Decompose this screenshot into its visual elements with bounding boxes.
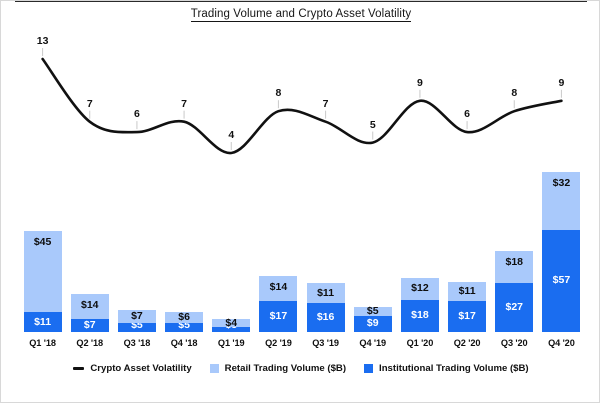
- legend-item[interactable]: Institutional Trading Volume ($B): [364, 363, 529, 374]
- bar-label-retail: $45: [24, 237, 62, 248]
- bar-label-institutional: $7: [71, 320, 109, 331]
- bar-label-retail: $11: [448, 286, 486, 297]
- bar-label-retail: $32: [542, 178, 580, 189]
- bar-label-retail: $4: [212, 318, 250, 329]
- bar-segment-retail: $14: [259, 276, 297, 301]
- bar-group: $57$32: [542, 172, 580, 332]
- bar-segment-institutional: $17: [259, 301, 297, 332]
- x-tick-label: Q3 '20: [491, 338, 538, 348]
- bar-segment-retail: $5: [354, 307, 392, 316]
- bar-segment-institutional: $11: [24, 312, 62, 332]
- bar-label-institutional: $11: [24, 317, 62, 328]
- bar-label-retail: $5: [354, 306, 392, 317]
- x-tick-label: Q4 '19: [349, 338, 396, 348]
- bar-label-retail: $7: [118, 311, 156, 322]
- bar-group: $5$6: [165, 312, 203, 332]
- volatility-point-label: 8: [494, 87, 534, 99]
- x-tick-label: Q4 '18: [161, 338, 208, 348]
- volatility-point-label: 5: [353, 119, 393, 131]
- bar-segment-institutional: $3: [212, 327, 250, 332]
- x-tick-label: Q2 '19: [255, 338, 302, 348]
- plot-area: $11$45$7$14$5$7$5$6$3$4$17$14$16$11$9$5$…: [1, 1, 600, 404]
- bars-layer: $11$45$7$14$5$7$5$6$3$4$17$14$16$11$9$5$…: [1, 1, 600, 404]
- bar-label-retail: $12: [401, 283, 439, 294]
- bar-label-retail: $18: [495, 257, 533, 268]
- bar-segment-retail: $18: [495, 251, 533, 283]
- bar-group: $11$45: [24, 231, 62, 332]
- bar-segment-retail: $11: [448, 282, 486, 302]
- bar-label-institutional: $57: [542, 275, 580, 286]
- volatility-point-label: 13: [23, 35, 63, 47]
- bar-group: $7$14: [71, 294, 109, 332]
- volatility-point-label: 9: [400, 77, 440, 89]
- legend-item-label: Institutional Trading Volume ($B): [379, 363, 529, 374]
- bar-group: $17$11: [448, 282, 486, 332]
- bar-group: $27$18: [495, 251, 533, 332]
- volatility-point-label: 6: [447, 108, 487, 120]
- legend-square-marker-icon: [364, 364, 373, 373]
- bar-segment-institutional: $18: [401, 300, 439, 332]
- volatility-point-label: 4: [211, 129, 251, 141]
- bar-label-retail: $6: [165, 312, 203, 323]
- legend-item-label: Crypto Asset Volatility: [90, 363, 191, 374]
- chart-container: Trading Volume and Crypto Asset Volatili…: [0, 0, 600, 403]
- bar-segment-institutional: $5: [118, 323, 156, 332]
- bar-segment-institutional: $7: [71, 319, 109, 332]
- bar-label-institutional: $17: [259, 311, 297, 322]
- volatility-point-label: 6: [117, 108, 157, 120]
- bar-label-institutional: $27: [495, 302, 533, 313]
- volatility-point-label: 7: [70, 98, 110, 110]
- bar-group: $18$12: [401, 278, 439, 332]
- bar-segment-retail: $7: [118, 310, 156, 323]
- bar-segment-retail: $11: [307, 283, 345, 303]
- volatility-line-labels: 1376748759689: [1, 1, 600, 404]
- legend-item[interactable]: Crypto Asset Volatility: [73, 363, 191, 374]
- bar-segment-institutional: $9: [354, 316, 392, 332]
- bar-label-institutional: $5: [118, 320, 156, 331]
- bar-group: $17$14: [259, 276, 297, 332]
- bar-label-retail: $14: [71, 300, 109, 311]
- volatility-line: [43, 59, 562, 153]
- legend-line-marker-icon: [73, 367, 84, 370]
- bar-group: $9$5: [354, 307, 392, 332]
- x-tick-label: Q4 '20: [538, 338, 585, 348]
- bar-label-institutional: $18: [401, 310, 439, 321]
- volatility-point-label: 7: [306, 98, 346, 110]
- bar-label-institutional: $9: [354, 318, 392, 329]
- x-tick-label: Q1 '18: [19, 338, 66, 348]
- bar-group: $5$7: [118, 310, 156, 332]
- bar-group: $3$4: [212, 319, 250, 332]
- bar-segment-institutional: $57: [542, 230, 580, 332]
- bar-label-institutional: $3: [212, 320, 250, 331]
- bar-segment-retail: $12: [401, 278, 439, 300]
- x-tick-label: Q2 '20: [444, 338, 491, 348]
- bar-label-retail: $14: [259, 282, 297, 293]
- x-tick-label: Q1 '19: [208, 338, 255, 348]
- bar-segment-institutional: $5: [165, 323, 203, 332]
- x-axis-line: [15, 1, 587, 2]
- x-tick-label: Q1 '20: [396, 338, 443, 348]
- x-tick-label: Q2 '18: [66, 338, 113, 348]
- x-tick-label: Q3 '19: [302, 338, 349, 348]
- bar-label-institutional: $17: [448, 311, 486, 322]
- legend-item[interactable]: Retail Trading Volume ($B): [210, 363, 346, 374]
- bar-segment-retail: $6: [165, 312, 203, 323]
- bar-segment-retail: $14: [71, 294, 109, 319]
- bar-segment-retail: $45: [24, 231, 62, 312]
- bar-segment-retail: $32: [542, 172, 580, 230]
- legend-square-marker-icon: [210, 364, 219, 373]
- bar-label-retail: $11: [307, 288, 345, 299]
- bar-label-institutional: $16: [307, 312, 345, 323]
- volatility-point-label: 9: [541, 77, 581, 89]
- x-tick-label: Q3 '18: [113, 338, 160, 348]
- bar-segment-institutional: $17: [448, 301, 486, 332]
- x-axis-tick-labels: Q1 '18Q2 '18Q3 '18Q4 '18Q1 '19Q2 '19Q3 '…: [1, 1, 600, 404]
- chart-legend: Crypto Asset VolatilityRetail Trading Vo…: [1, 363, 600, 374]
- volatility-line-layer: [1, 1, 600, 404]
- bar-segment-institutional: $27: [495, 283, 533, 332]
- bar-segment-institutional: $16: [307, 303, 345, 332]
- bar-segment-retail: $4: [212, 319, 250, 326]
- volatility-point-label: 8: [258, 87, 298, 99]
- volatility-point-label: 7: [164, 98, 204, 110]
- bar-label-institutional: $5: [165, 320, 203, 331]
- bar-group: $16$11: [307, 283, 345, 332]
- legend-item-label: Retail Trading Volume ($B): [225, 363, 346, 374]
